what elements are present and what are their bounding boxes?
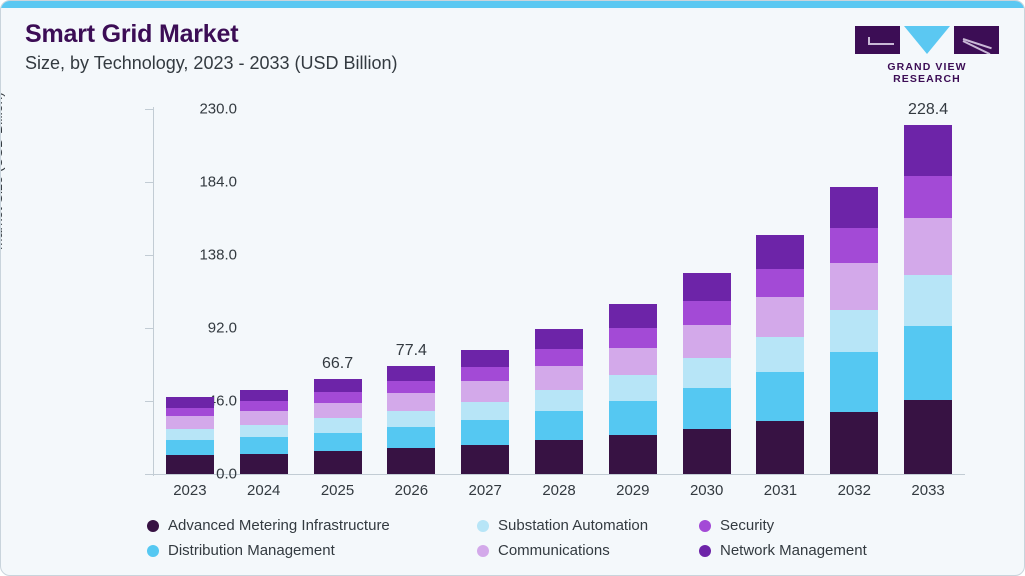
bar-group[interactable]	[153, 109, 227, 474]
legend-item[interactable]: Distribution Management	[147, 542, 477, 559]
bar-segment[interactable]	[683, 273, 731, 302]
bar-segment[interactable]	[756, 297, 804, 336]
bar-segment[interactable]	[683, 325, 731, 358]
bar-segment[interactable]	[240, 425, 288, 438]
bar-segment[interactable]	[535, 349, 583, 366]
y-axis-tick-mark	[145, 328, 153, 329]
legend-item-label: Substation Automation	[498, 517, 648, 534]
bar-segment[interactable]	[461, 381, 509, 401]
bar-segment[interactable]	[314, 392, 362, 403]
bar-segment[interactable]	[314, 451, 362, 474]
chart-legend: Advanced Metering InfrastructureSubstati…	[147, 513, 977, 563]
bar-segment[interactable]	[756, 337, 804, 372]
bar-segment[interactable]	[166, 397, 214, 407]
y-axis-tick-mark	[145, 474, 153, 475]
x-axis-tick-label: 2031	[764, 482, 797, 499]
legend-swatch-icon	[699, 545, 711, 557]
chart-card: Smart Grid Market Size, by Technology, 2…	[0, 0, 1025, 576]
top-accent-bar	[1, 1, 1024, 8]
bar-segment[interactable]	[461, 402, 509, 420]
bar-stack[interactable]	[830, 187, 878, 474]
bar-segment[interactable]	[461, 350, 509, 367]
x-axis-tick-label: 2032	[838, 482, 871, 499]
bar-segment[interactable]	[461, 420, 509, 445]
legend-item[interactable]: Network Management	[699, 542, 977, 559]
bar-segment[interactable]	[683, 388, 731, 429]
legend-item-label: Communications	[498, 542, 610, 559]
bar-segment[interactable]	[240, 401, 288, 411]
x-axis-tick-label: 2033	[911, 482, 944, 499]
bar-segment[interactable]	[240, 411, 288, 425]
bar-segment[interactable]	[904, 326, 952, 400]
bar-segment[interactable]	[830, 412, 878, 474]
bar-stack[interactable]	[756, 235, 804, 474]
bar-segment[interactable]	[387, 393, 435, 411]
bar-segment[interactable]	[830, 187, 878, 229]
bar-segment[interactable]	[314, 433, 362, 452]
grand-view-research-logo: GRAND VIEW RESEARCH	[852, 26, 1002, 85]
y-axis-tick-mark	[145, 401, 153, 402]
legend-item-label: Network Management	[720, 542, 867, 559]
bar-segment[interactable]	[387, 366, 435, 381]
bar-segment[interactable]	[166, 429, 214, 440]
logo-triangle-icon	[904, 26, 950, 54]
x-axis-tick-label: 2029	[616, 482, 649, 499]
logo-left-block-icon	[855, 26, 900, 54]
bar-segment[interactable]	[461, 367, 509, 381]
legend-item[interactable]: Security	[699, 517, 977, 534]
bar-segment[interactable]	[609, 435, 657, 474]
bar-stack[interactable]	[683, 273, 731, 474]
bar-segment[interactable]	[166, 455, 214, 474]
bar-segment[interactable]	[535, 411, 583, 440]
bar-stack[interactable]	[461, 350, 509, 474]
bar-segment[interactable]	[387, 448, 435, 474]
bar-segment[interactable]	[756, 269, 804, 297]
bar-stack[interactable]	[904, 125, 952, 474]
legend-item[interactable]: Advanced Metering Infrastructure	[147, 517, 477, 534]
bar-group[interactable]	[522, 109, 596, 474]
logo-text: GRAND VIEW RESEARCH	[852, 61, 1002, 85]
bar-segment[interactable]	[756, 235, 804, 269]
bar-segment[interactable]	[314, 379, 362, 392]
x-axis-tick-label: 2026	[395, 482, 428, 499]
bar-segment[interactable]	[904, 218, 952, 275]
y-axis-title: Market Size (USD Billion)	[0, 51, 5, 291]
bar-segment[interactable]	[830, 263, 878, 310]
bar-group[interactable]: 77.4	[374, 109, 448, 474]
bar-segment[interactable]	[240, 437, 288, 454]
x-axis-tick-label: 2023	[173, 482, 206, 499]
bar-segment[interactable]	[830, 310, 878, 352]
bar-group[interactable]: 66.7	[301, 109, 375, 474]
legend-item-label: Advanced Metering Infrastructure	[168, 517, 390, 534]
bar-segment[interactable]	[830, 228, 878, 262]
bar-segment[interactable]	[535, 366, 583, 390]
bar-segment[interactable]	[904, 400, 952, 474]
bar-stack[interactable]	[387, 366, 435, 474]
bar-group[interactable]	[227, 109, 301, 474]
y-axis-tick-mark	[145, 182, 153, 183]
legend-item-label: Security	[720, 517, 774, 534]
legend-swatch-icon	[147, 520, 159, 532]
bar-stack[interactable]	[535, 329, 583, 474]
bar-segment[interactable]	[535, 390, 583, 411]
bar-segment[interactable]	[609, 348, 657, 376]
bar-segment[interactable]	[609, 304, 657, 328]
bar-value-label: 228.4	[908, 101, 948, 119]
y-axis-tick-mark	[145, 109, 153, 110]
bar-segment[interactable]	[166, 408, 214, 417]
bar-segment[interactable]	[609, 375, 657, 400]
bar-group[interactable]	[744, 109, 818, 474]
logo-right-block-icon	[954, 26, 999, 54]
legend-swatch-icon	[477, 545, 489, 557]
bar-group[interactable]: 228.4	[891, 109, 965, 474]
bar-group[interactable]	[448, 109, 522, 474]
bar-segment[interactable]	[830, 352, 878, 412]
bar-segment[interactable]	[609, 401, 657, 436]
legend-item-label: Distribution Management	[168, 542, 335, 559]
bar-stack[interactable]	[314, 379, 362, 474]
bar-stack[interactable]	[166, 397, 214, 474]
bar-group[interactable]	[817, 109, 891, 474]
x-axis-tick-label: 2030	[690, 482, 723, 499]
logo-marks	[852, 26, 1002, 56]
bar-segment[interactable]	[387, 411, 435, 427]
bar-segment[interactable]	[609, 328, 657, 348]
bar-value-label: 77.4	[396, 342, 427, 360]
x-axis-line	[153, 474, 965, 475]
bar-stack[interactable]	[240, 390, 288, 474]
legend-item[interactable]: Substation Automation	[477, 517, 699, 534]
bar-segment[interactable]	[240, 390, 288, 401]
bar-segment[interactable]	[683, 429, 731, 474]
x-axis-tick-label: 2024	[247, 482, 280, 499]
bar-segment[interactable]	[904, 176, 952, 218]
bar-segment[interactable]	[535, 329, 583, 349]
bar-group[interactable]	[670, 109, 744, 474]
bar-stack[interactable]	[609, 304, 657, 474]
bar-segment[interactable]	[904, 125, 952, 176]
legend-swatch-icon	[147, 545, 159, 557]
bar-group[interactable]	[596, 109, 670, 474]
y-axis-tick-mark	[145, 255, 153, 256]
bar-segment[interactable]	[683, 358, 731, 388]
bar-segment[interactable]	[314, 403, 362, 419]
x-axis-tick-label: 2028	[542, 482, 575, 499]
bar-value-label: 66.7	[322, 355, 353, 373]
plot-bars: 66.777.4228.4	[153, 109, 965, 474]
bar-segment[interactable]	[314, 418, 362, 432]
bar-segment[interactable]	[756, 372, 804, 422]
x-axis-tick-label: 2027	[468, 482, 501, 499]
bar-segment[interactable]	[166, 416, 214, 429]
bar-segment[interactable]	[756, 421, 804, 474]
x-axis-tick-label: 2025	[321, 482, 354, 499]
legend-swatch-icon	[477, 520, 489, 532]
legend-swatch-icon	[699, 520, 711, 532]
legend-item[interactable]: Communications	[477, 542, 699, 559]
bar-segment[interactable]	[166, 440, 214, 455]
bar-segment[interactable]	[387, 427, 435, 448]
bar-segment[interactable]	[904, 275, 952, 326]
bar-segment[interactable]	[240, 454, 288, 474]
bar-segment[interactable]	[683, 301, 731, 325]
bar-segment[interactable]	[461, 445, 509, 474]
bar-segment[interactable]	[387, 381, 435, 393]
bar-segment[interactable]	[535, 440, 583, 474]
